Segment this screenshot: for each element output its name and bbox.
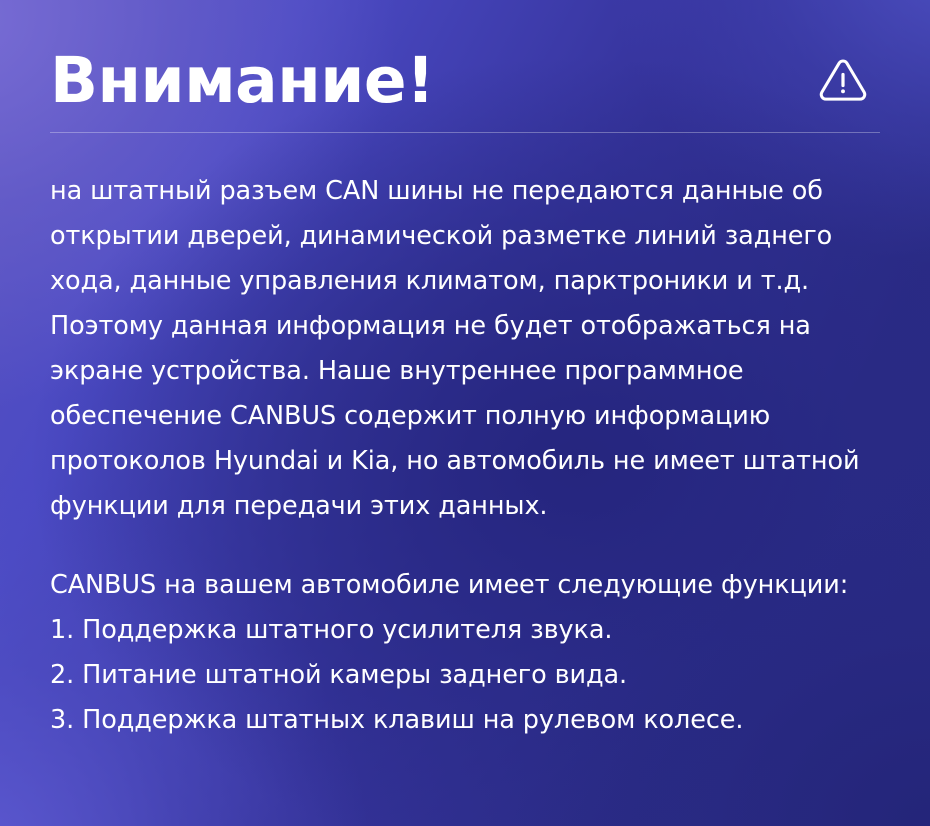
paragraph-line: протоколов Hyundai и Kia, но автомобиль …	[50, 439, 880, 484]
paragraph-line: на штатный разъем CAN шины не передаются…	[50, 169, 880, 214]
list-item: 3. Поддержка штатных клавиш на рулевом к…	[50, 698, 880, 743]
paragraph-line: Поэтому данная информация не будет отобр…	[50, 304, 880, 349]
features-list: 1. Поддержка штатного усилителя звука. 2…	[50, 608, 880, 743]
page-title: Внимание!	[50, 49, 434, 112]
paragraph-line: экране устройства. Наше внутреннее прогр…	[50, 349, 880, 394]
list-item: 1. Поддержка штатного усилителя звука.	[50, 608, 880, 653]
features-intro: CANBUS на вашем автомобиле имеет следующ…	[50, 563, 880, 608]
paragraph-line: обеспечение CANBUS содержит полную инфор…	[50, 394, 880, 439]
header-divider	[50, 132, 880, 133]
poster-content: Внимание! на штатный разъем CAN шины не …	[0, 0, 930, 826]
warning-triangle-icon	[816, 53, 870, 107]
notice-paragraph: на штатный разъем CAN шины не передаются…	[50, 169, 880, 529]
notice-body: на штатный разъем CAN шины не передаются…	[50, 169, 880, 529]
paragraph-line: функции для передачи этих данных.	[50, 484, 880, 529]
paragraph-line: хода, данные управления климатом, парктр…	[50, 259, 880, 304]
features-section: CANBUS на вашем автомобиле имеет следующ…	[50, 563, 880, 743]
poster-header: Внимание!	[50, 0, 880, 116]
paragraph-line: открытии дверей, динамической разметке л…	[50, 214, 880, 259]
list-item: 2. Питание штатной камеры заднего вида.	[50, 653, 880, 698]
warning-notice-poster: Внимание! на штатный разъем CAN шины не …	[0, 0, 930, 826]
warning-icon-wrapper	[816, 53, 880, 107]
